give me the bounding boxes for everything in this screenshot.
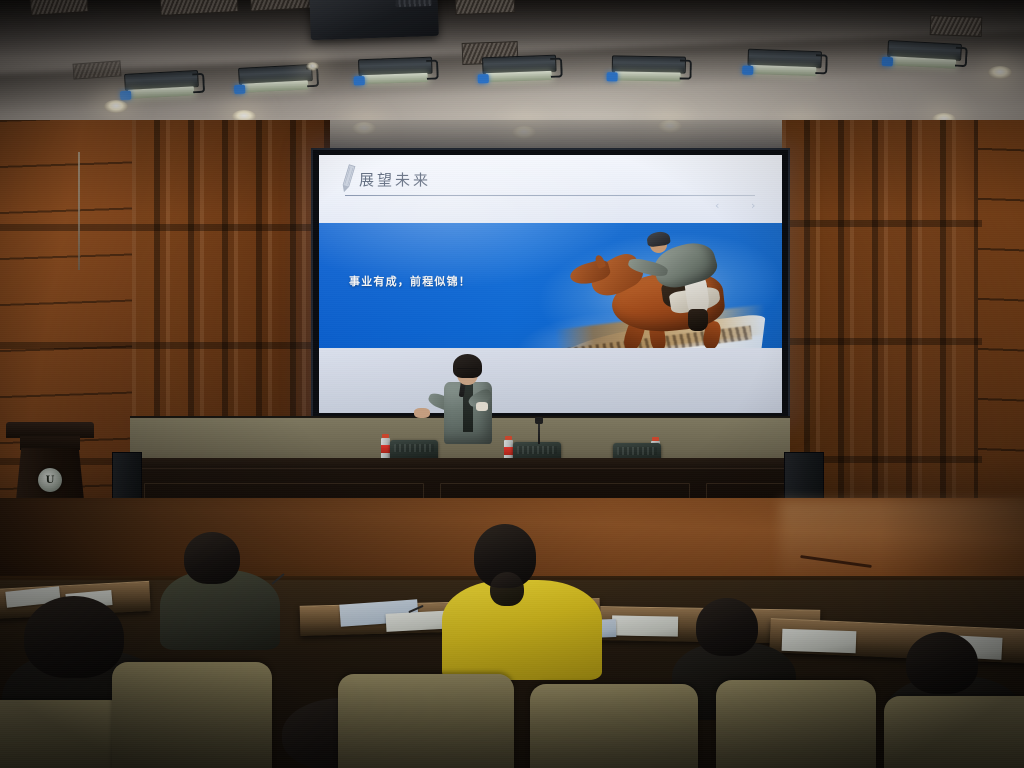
lectern-neck	[20, 436, 80, 450]
stage-light-fixture	[886, 40, 961, 74]
audience-member	[160, 532, 280, 640]
paper-sheet	[612, 615, 678, 636]
right-wall-flat-panel	[978, 120, 1024, 550]
stage-light-fixture	[124, 70, 199, 104]
stage-light-fixture	[747, 49, 822, 82]
auditorium-seat	[716, 680, 876, 768]
downlight	[104, 100, 128, 113]
slide-title: 展望未来	[359, 169, 431, 190]
ceiling-vent	[930, 15, 983, 37]
audience-area	[0, 580, 1024, 768]
audience-head	[906, 632, 978, 694]
presenter-cuff	[476, 402, 488, 411]
slide-banner: 事业有成，前程似锦！	[319, 223, 782, 348]
pen-icon	[337, 163, 359, 196]
paper-sheet	[782, 629, 857, 654]
slide-prev-arrow[interactable]: ‹	[715, 199, 719, 212]
audience-head	[696, 598, 758, 656]
hanging-cable	[78, 152, 80, 270]
presenter-left-hand	[414, 408, 430, 418]
water-bottle	[381, 434, 390, 460]
downlight	[988, 66, 1012, 79]
audience-head	[24, 596, 124, 678]
slide-slogan: 事业有成，前程似锦！	[349, 273, 471, 289]
rider-boot	[688, 309, 708, 331]
slat-band	[782, 220, 982, 227]
auditorium-seat	[0, 700, 126, 768]
institution-emblem-letter: U	[46, 475, 55, 486]
slide-footer	[319, 348, 782, 413]
projector	[309, 0, 439, 40]
rider-helmet	[646, 230, 671, 247]
auditorium-seat	[112, 662, 272, 768]
slide-title-rule	[345, 195, 755, 196]
slat-band	[0, 342, 330, 349]
ceiling-vent	[73, 60, 122, 79]
auditorium-seat	[338, 674, 514, 768]
slat-band	[782, 338, 982, 345]
downlight	[306, 62, 319, 71]
stage-light-fixture	[358, 57, 433, 90]
presenter-hair	[453, 354, 482, 378]
stage-light-fixture	[611, 55, 686, 86]
stage-light-fixture	[238, 64, 313, 98]
audience-member	[452, 528, 584, 648]
institution-emblem: U	[38, 468, 62, 492]
slide-next-arrow[interactable]: ›	[751, 199, 755, 212]
audience-member	[676, 598, 786, 688]
slat-band	[0, 224, 330, 231]
projection-screen[interactable]: 展望未来	[313, 150, 788, 418]
gooseneck-microphone	[538, 422, 540, 444]
auditorium-seat	[884, 696, 1024, 768]
auditorium-scene: 展望未来	[0, 0, 1024, 768]
audience-hair-bun	[490, 572, 524, 606]
presenter-glasses	[457, 368, 478, 372]
equestrian-image	[562, 229, 762, 348]
ceiling-vent	[455, 0, 516, 15]
audience-head	[184, 532, 240, 584]
auditorium-seat	[530, 684, 698, 768]
slide-header: 展望未来	[319, 155, 782, 223]
stage-light-fixture	[482, 55, 557, 88]
slide-surface: 展望未来	[319, 155, 782, 413]
presenter	[430, 352, 510, 462]
